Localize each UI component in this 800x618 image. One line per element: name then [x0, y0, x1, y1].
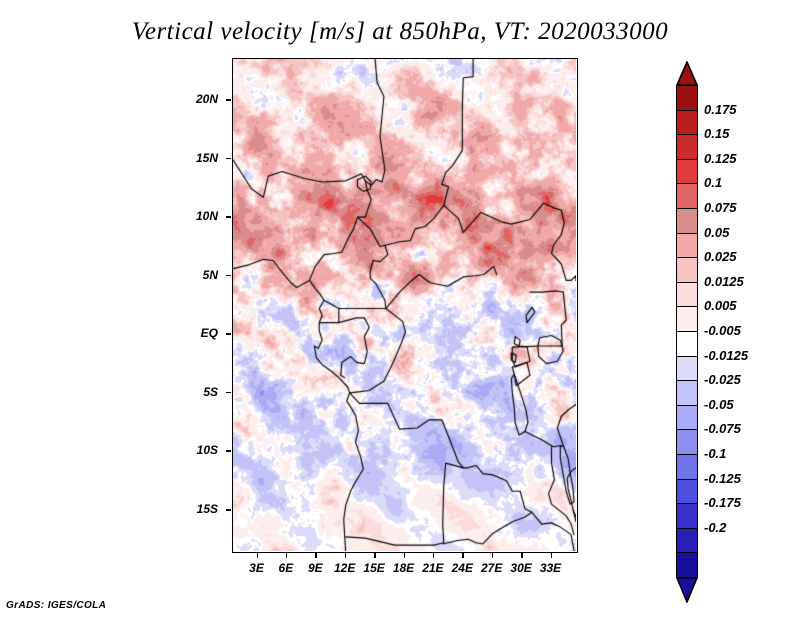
x-axis-tick-mark — [374, 553, 376, 558]
x-axis-tick-mark — [286, 553, 288, 558]
x-axis-tick-mark — [521, 553, 523, 558]
colorbar-swatch — [676, 183, 698, 209]
colorbar-swatch — [676, 479, 698, 505]
colorbar-tick-label: -0.1 — [704, 446, 726, 461]
y-axis-tick-label: 20N — [170, 93, 218, 105]
colorbar-swatch — [676, 85, 698, 111]
y-axis-tick-label: 5S — [170, 386, 218, 398]
y-axis-tick-label: 15S — [170, 503, 218, 515]
colorbar-tick-label: 0.075 — [704, 200, 737, 215]
y-axis-tick-mark — [226, 333, 231, 335]
x-axis-tick-mark — [345, 553, 347, 558]
colorbar-tick-label: -0.0125 — [704, 348, 748, 363]
y-axis-tick-mark — [226, 450, 231, 452]
y-axis-tick-mark — [226, 275, 231, 277]
x-axis-tick-mark — [433, 553, 435, 558]
colorbar-swatch — [676, 110, 698, 136]
colorbar-tick-label: -0.2 — [704, 520, 726, 535]
colorbar-tick-label: 0.0125 — [704, 274, 744, 289]
colorbar-tick-label: 0.1 — [704, 175, 722, 190]
y-axis-tick-label: 10N — [170, 210, 218, 222]
colorbar-swatch — [676, 257, 698, 283]
x-axis-tick-mark — [257, 553, 259, 558]
page-title: Vertical velocity [m/s] at 850hPa, VT: 2… — [0, 18, 800, 46]
colorbar-swatch — [676, 405, 698, 431]
y-axis-tick-label: 10S — [170, 444, 218, 456]
colorbar: 0.1750.150.1250.10.0750.050.0250.01250.0… — [672, 60, 800, 560]
colorbar-swatch — [676, 454, 698, 480]
colorbar-tick-label: 0.05 — [704, 225, 729, 240]
colorbar-tick-label: 0.005 — [704, 298, 737, 313]
colorbar-tick-label: 0.125 — [704, 151, 737, 166]
colorbar-tick-label: 0.025 — [704, 249, 737, 264]
colorbar-swatch — [676, 528, 698, 554]
colorbar-swatch — [676, 429, 698, 455]
colorbar-swatch — [676, 306, 698, 332]
colorbar-tick-label: -0.005 — [704, 323, 741, 338]
x-axis-tick-mark — [462, 553, 464, 558]
y-axis-tick-label: EQ — [170, 327, 218, 339]
y-axis-tick-mark — [226, 392, 231, 394]
x-axis-tick-mark — [315, 553, 317, 558]
colorbar-tick-label: 0.175 — [704, 102, 737, 117]
colorbar-swatch — [676, 233, 698, 259]
colorbar-tick-label: -0.025 — [704, 372, 741, 387]
x-axis-tick-mark — [551, 553, 553, 558]
colorbar-min-arrow — [676, 577, 698, 601]
y-axis-tick-mark — [226, 509, 231, 511]
colorbar-swatch — [676, 331, 698, 357]
colorbar-tick-label: -0.125 — [704, 471, 741, 486]
country-borders-overlay — [233, 59, 576, 551]
colorbar-swatch — [676, 159, 698, 185]
x-axis-tick-mark — [404, 553, 406, 558]
x-axis-tick-mark — [492, 553, 494, 558]
colorbar-max-arrow — [676, 61, 698, 85]
map-plot-area — [232, 58, 578, 553]
x-axis-tick-label: 33E — [534, 561, 568, 575]
footer-credit: GrADS: IGES/COLA — [6, 600, 106, 611]
colorbar-swatch — [676, 380, 698, 406]
colorbar-tick-label: -0.175 — [704, 495, 741, 510]
y-axis-tick-mark — [226, 158, 231, 160]
colorbar-swatch — [676, 208, 698, 234]
colorbar-swatch — [676, 552, 698, 578]
colorbar-tick-label: -0.075 — [704, 421, 741, 436]
colorbar-swatch — [676, 282, 698, 308]
y-axis-tick-label: 5N — [170, 269, 218, 281]
colorbar-swatch — [676, 134, 698, 160]
y-axis-tick-label: 15N — [170, 152, 218, 164]
colorbar-tick-label: 0.15 — [704, 126, 729, 141]
colorbar-swatch — [676, 356, 698, 382]
colorbar-tick-label: -0.05 — [704, 397, 734, 412]
y-axis-tick-mark — [226, 216, 231, 218]
colorbar-swatch — [676, 503, 698, 529]
y-axis-tick-mark — [226, 99, 231, 101]
